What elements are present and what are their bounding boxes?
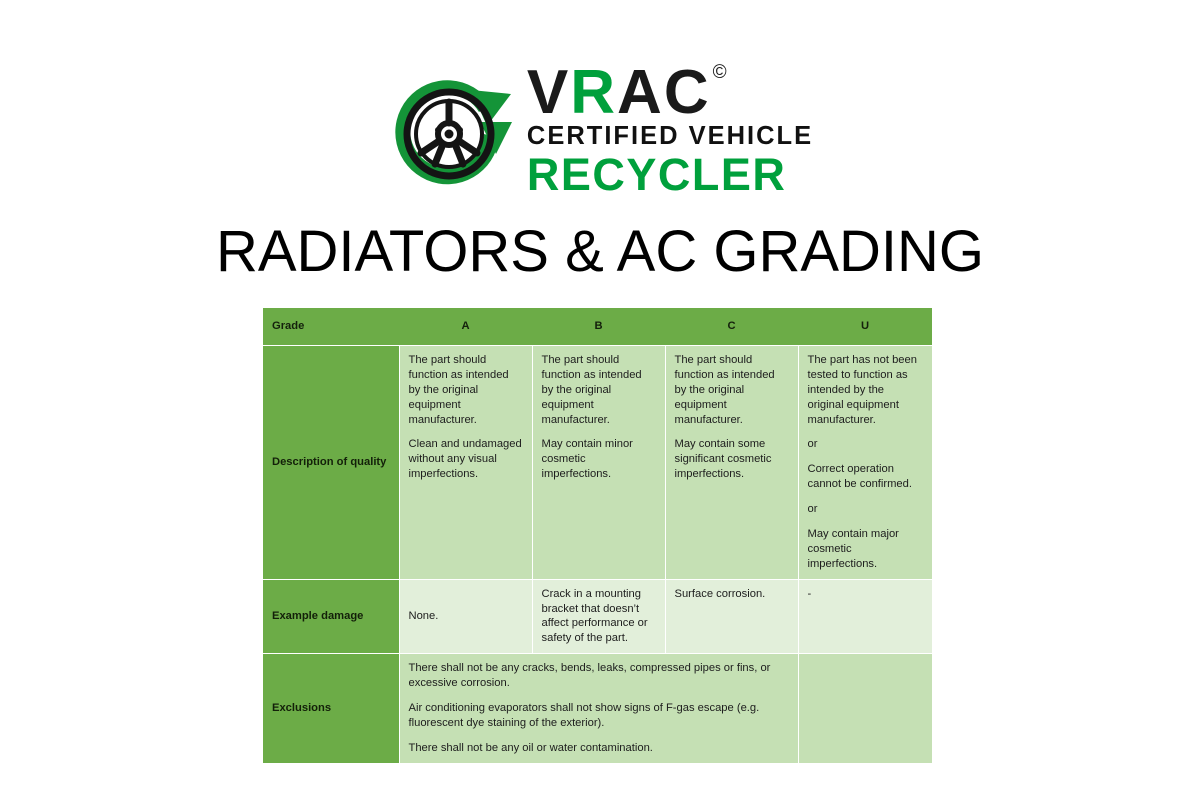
cell-exclusions-u bbox=[798, 654, 932, 763]
cell-paragraph: Crack in a mounting bracket that doesn’t… bbox=[542, 587, 656, 647]
cell-paragraph: The part should function as intended by … bbox=[542, 353, 656, 427]
table-header-row: Grade A B C U bbox=[263, 308, 932, 346]
cell-description-a: The part should function as intended by … bbox=[399, 346, 532, 580]
cell-example-damage-b: Crack in a mounting bracket that doesn’t… bbox=[532, 579, 665, 654]
cell-paragraph: None. bbox=[409, 609, 523, 624]
logo-inner: VRAC© CERTIFIED VEHICLE RECYCLER bbox=[387, 64, 813, 196]
header-grade-u: U bbox=[798, 308, 932, 346]
cell-example-damage-u: - bbox=[798, 579, 932, 654]
vrac-logo: VRAC© CERTIFIED VEHICLE RECYCLER bbox=[0, 58, 1200, 203]
cell-description-u: The part has not been tested to function… bbox=[798, 346, 932, 580]
grading-table: Grade A B C U Description of quality The… bbox=[263, 308, 933, 764]
cell-paragraph: There shall not be any cracks, bends, le… bbox=[409, 661, 789, 691]
header-grade-a: A bbox=[399, 308, 532, 346]
page-title: RADIATORS & AC GRADING bbox=[0, 218, 1200, 285]
cell-paragraph: The part should function as intended by … bbox=[675, 353, 789, 427]
cell-paragraph: The part has not been tested to function… bbox=[808, 353, 923, 427]
cell-paragraph: There shall not be any oil or water cont… bbox=[409, 741, 789, 756]
table-row: Description of quality The part should f… bbox=[263, 346, 932, 580]
cell-paragraph: Clean and undamaged without any visual i… bbox=[409, 437, 523, 482]
cell-paragraph: Surface corrosion. bbox=[675, 587, 789, 602]
row-label-description-of-quality: Description of quality bbox=[263, 346, 399, 580]
cell-description-b: The part should function as intended by … bbox=[532, 346, 665, 580]
logo-recycler-text: RECYCLER bbox=[527, 152, 787, 197]
cell-exclusions-merged: There shall not be any cracks, bends, le… bbox=[399, 654, 798, 763]
header-grade-label: Grade bbox=[263, 308, 399, 346]
copyright-icon: © bbox=[713, 62, 729, 83]
logo-letter-v: V bbox=[527, 58, 570, 127]
cell-description-c: The part should function as intended by … bbox=[665, 346, 798, 580]
page-root: VRAC© CERTIFIED VEHICLE RECYCLER RADIATO… bbox=[0, 0, 1200, 800]
vrac-recycling-wheel-logo-icon bbox=[387, 64, 523, 196]
cell-paragraph: Correct operation cannot be confirmed. bbox=[808, 462, 923, 492]
row-label-exclusions: Exclusions bbox=[263, 654, 399, 763]
cell-paragraph: May contain some significant cosmetic im… bbox=[675, 437, 789, 482]
cell-paragraph: - bbox=[808, 587, 923, 602]
cell-example-damage-a: None. bbox=[399, 579, 532, 654]
cell-paragraph: or bbox=[808, 502, 923, 517]
logo-letters-ac: AC bbox=[617, 58, 711, 127]
cell-example-damage-c: Surface corrosion. bbox=[665, 579, 798, 654]
logo-certified-vehicle-text: CERTIFIED VEHICLE bbox=[527, 124, 813, 150]
row-label-example-damage: Example damage bbox=[263, 579, 399, 654]
header-grade-c: C bbox=[665, 308, 798, 346]
table-row: Exclusions There shall not be any cracks… bbox=[263, 654, 932, 763]
logo-letter-r: R bbox=[570, 58, 617, 127]
cell-paragraph: The part should function as intended by … bbox=[409, 353, 523, 427]
table-row: Example damage None. Crack in a mounting… bbox=[263, 579, 932, 654]
logo-vrac-text: VRAC© bbox=[527, 64, 727, 123]
cell-paragraph: May contain minor cosmetic imperfections… bbox=[542, 437, 656, 482]
cell-paragraph: May contain major cosmetic imperfections… bbox=[808, 527, 923, 572]
cell-paragraph: or bbox=[808, 437, 923, 452]
cell-paragraph: Air conditioning evaporators shall not s… bbox=[409, 701, 789, 731]
header-grade-b: B bbox=[532, 308, 665, 346]
logo-wordmark: VRAC© CERTIFIED VEHICLE RECYCLER bbox=[527, 64, 813, 196]
